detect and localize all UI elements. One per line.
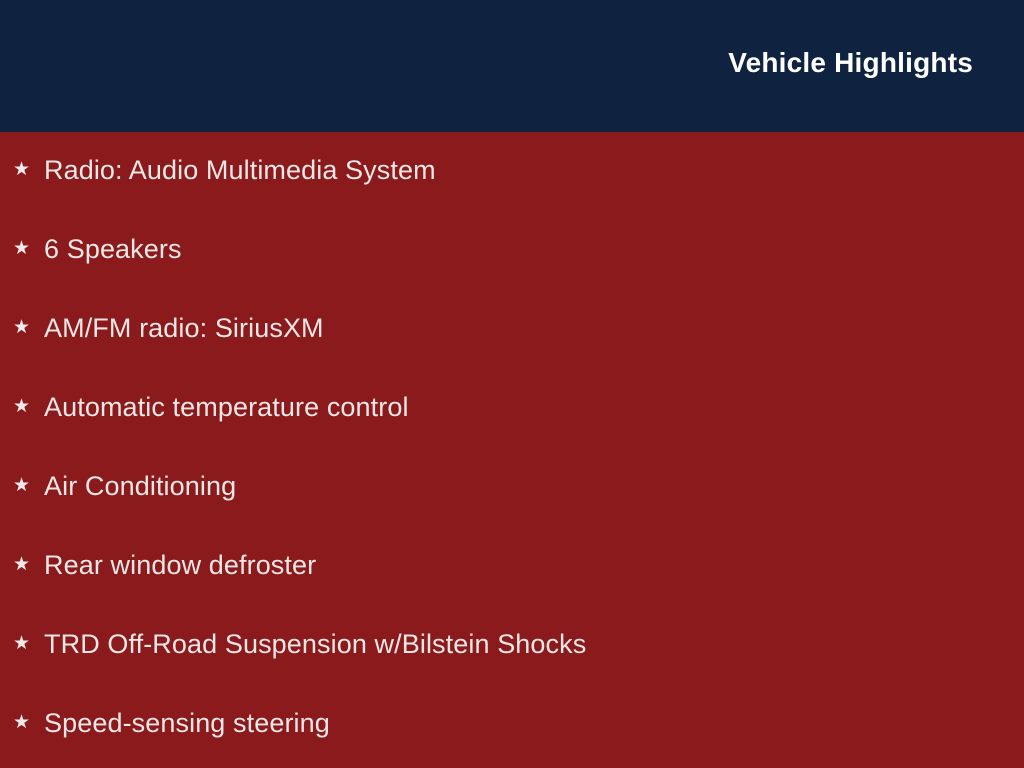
list-item: ★ Rear window defroster xyxy=(13,545,1004,585)
star-icon: ★ xyxy=(13,397,44,416)
page-title: Vehicle Highlights xyxy=(728,46,973,80)
list-item-label: Air Conditioning xyxy=(44,469,236,503)
star-icon: ★ xyxy=(13,160,44,179)
list-item: ★ Automatic temperature control xyxy=(13,387,1004,427)
list-item: ★ Radio: Audio Multimedia System xyxy=(13,150,1004,190)
star-icon: ★ xyxy=(13,239,44,258)
list-item-label: Speed-sensing steering xyxy=(44,706,330,740)
star-icon: ★ xyxy=(13,318,44,337)
list-item-label: TRD Off-Road Suspension w/Bilstein Shock… xyxy=(44,627,586,661)
list-item-label: AM/FM radio: SiriusXM xyxy=(44,311,324,345)
list-item: ★ 6 Speakers xyxy=(13,229,1004,269)
list-item-label: Radio: Audio Multimedia System xyxy=(44,153,436,187)
star-icon: ★ xyxy=(13,713,44,732)
list-item-label: Automatic temperature control xyxy=(44,390,409,424)
list-item-label: Rear window defroster xyxy=(44,548,316,582)
vehicle-highlights-slide: Vehicle Highlights ★ Radio: Audio Multim… xyxy=(0,0,1024,768)
list-item-label: 6 Speakers xyxy=(44,232,182,266)
list-item: ★ Speed-sensing steering xyxy=(13,703,1004,743)
list-item: ★ TRD Off-Road Suspension w/Bilstein Sho… xyxy=(13,624,1004,664)
list-item: ★ AM/FM radio: SiriusXM xyxy=(13,308,1004,348)
slide-body: ★ Radio: Audio Multimedia System ★ 6 Spe… xyxy=(0,132,1024,768)
star-icon: ★ xyxy=(13,555,44,574)
star-icon: ★ xyxy=(13,476,44,495)
list-item: ★ Air Conditioning xyxy=(13,466,1004,506)
star-icon: ★ xyxy=(13,634,44,653)
slide-header-band: Vehicle Highlights xyxy=(0,0,1024,132)
